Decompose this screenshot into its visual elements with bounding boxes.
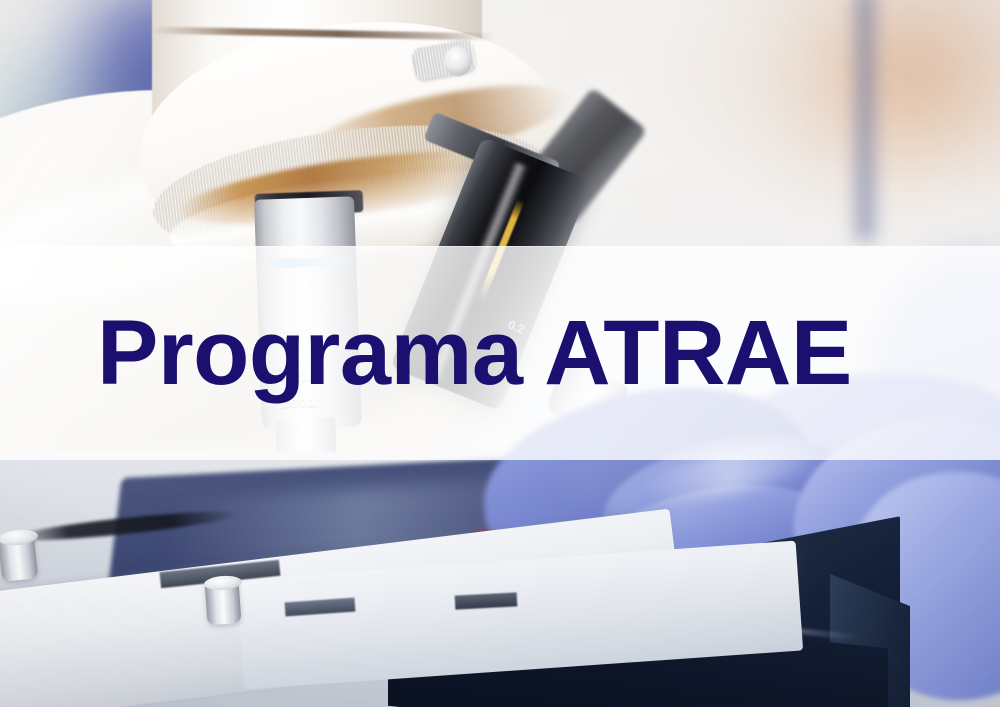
turret-screw-cap: [444, 46, 472, 76]
programa-atrae-banner: 45 0.2 40/0.65 160/0.17: [0, 0, 1000, 707]
background-blur-pole: [852, 0, 878, 240]
title-band: Programa ATRAE: [0, 246, 1000, 460]
page-title: Programa ATRAE: [97, 307, 852, 399]
background-blur-skin-right: [760, 0, 1000, 180]
